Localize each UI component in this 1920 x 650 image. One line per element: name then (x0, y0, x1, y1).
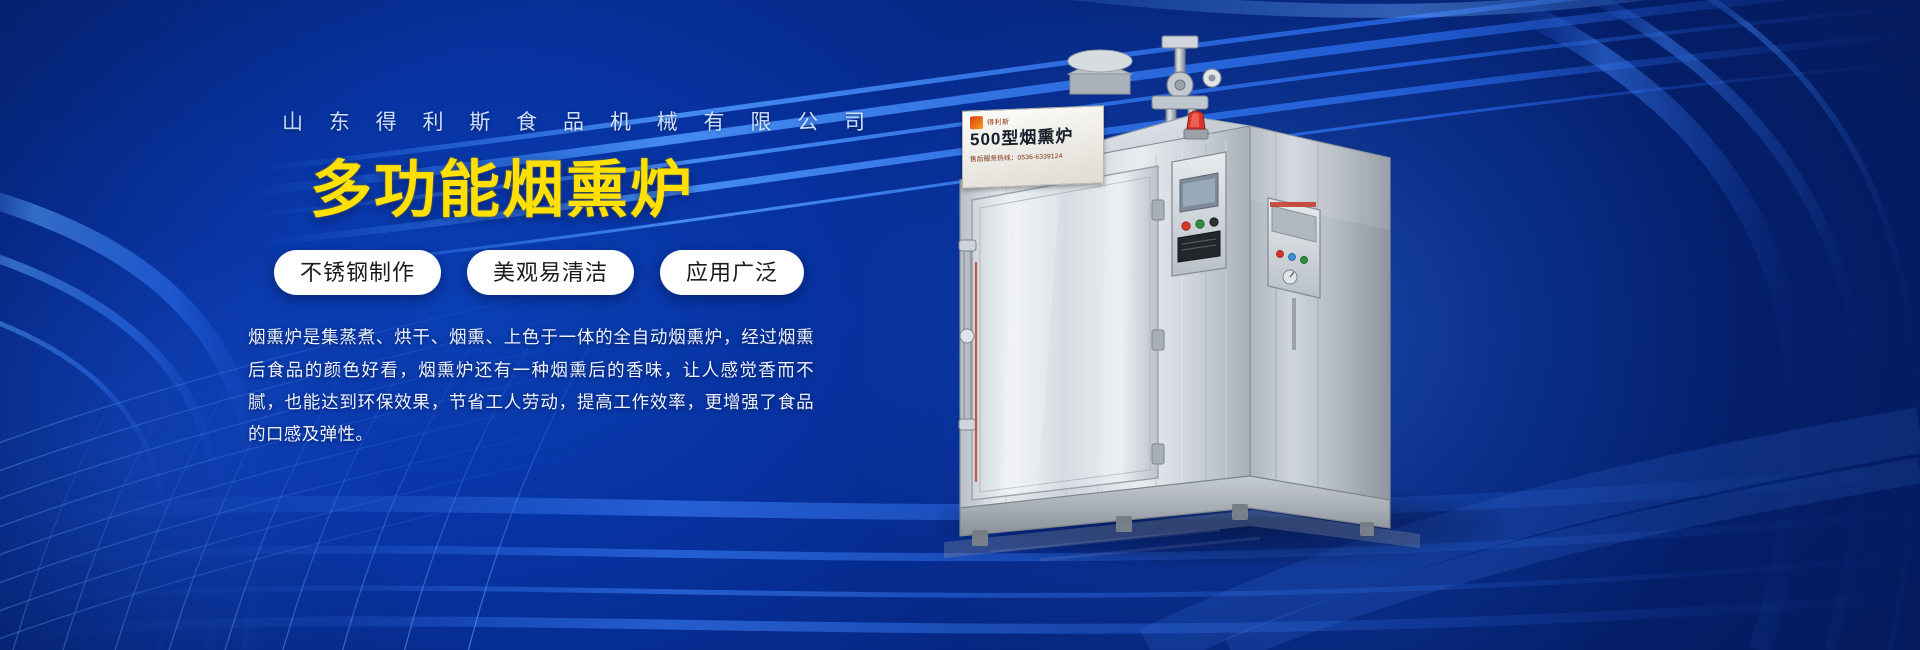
banner-copy: 山 东 得 利 斯 食 品 机 械 有 限 公 司 多功能烟熏炉 不锈钢制作 美… (248, 106, 848, 451)
company-name: 山 东 得 利 斯 食 品 机 械 有 限 公 司 (282, 106, 848, 136)
brand-logo-icon (970, 116, 983, 129)
oven-control-panel (1172, 152, 1226, 276)
oven-electrical-box (1268, 198, 1320, 298)
oven-button-red (1182, 222, 1190, 230)
oven-button-black (1210, 218, 1218, 226)
oven-nameplate-brand: 得利斯 (987, 116, 1010, 127)
oven-button-green (1196, 220, 1204, 228)
feature-pill-easy-clean[interactable]: 美观易清洁 (467, 250, 634, 296)
oven-nameplate: 得利斯 500型烟熏炉 售后服务热线：0536-6339124 (962, 105, 1104, 188)
product-description: 烟熏炉是集蒸煮、烘干、烟熏、上色于一体的全自动烟熏炉，经过烟熏后食品的颜色好看，… (248, 321, 814, 451)
promo-banner: 山 东 得 利 斯 食 品 机 械 有 限 公 司 多功能烟熏炉 不锈钢制作 美… (0, 0, 1920, 650)
oven-nameplate-hotline: 售后服务热线：0536-6339124 (970, 148, 1097, 163)
feature-pill-stainless[interactable]: 不锈钢制作 (274, 250, 441, 296)
product-image-smokehouse-oven: 得利斯 500型烟熏炉 售后服务热线：0536-6339124 (920, 30, 1540, 570)
feature-pill-wide-use[interactable]: 应用广泛 (660, 250, 804, 296)
page-title: 多功能烟熏炉 (310, 158, 848, 224)
oven-nameplate-model: 500型烟熏炉 (970, 127, 1097, 151)
oven-exhaust-duct (1068, 50, 1132, 94)
feature-pill-list: 不锈钢制作 美观易清洁 应用广泛 (274, 250, 848, 296)
